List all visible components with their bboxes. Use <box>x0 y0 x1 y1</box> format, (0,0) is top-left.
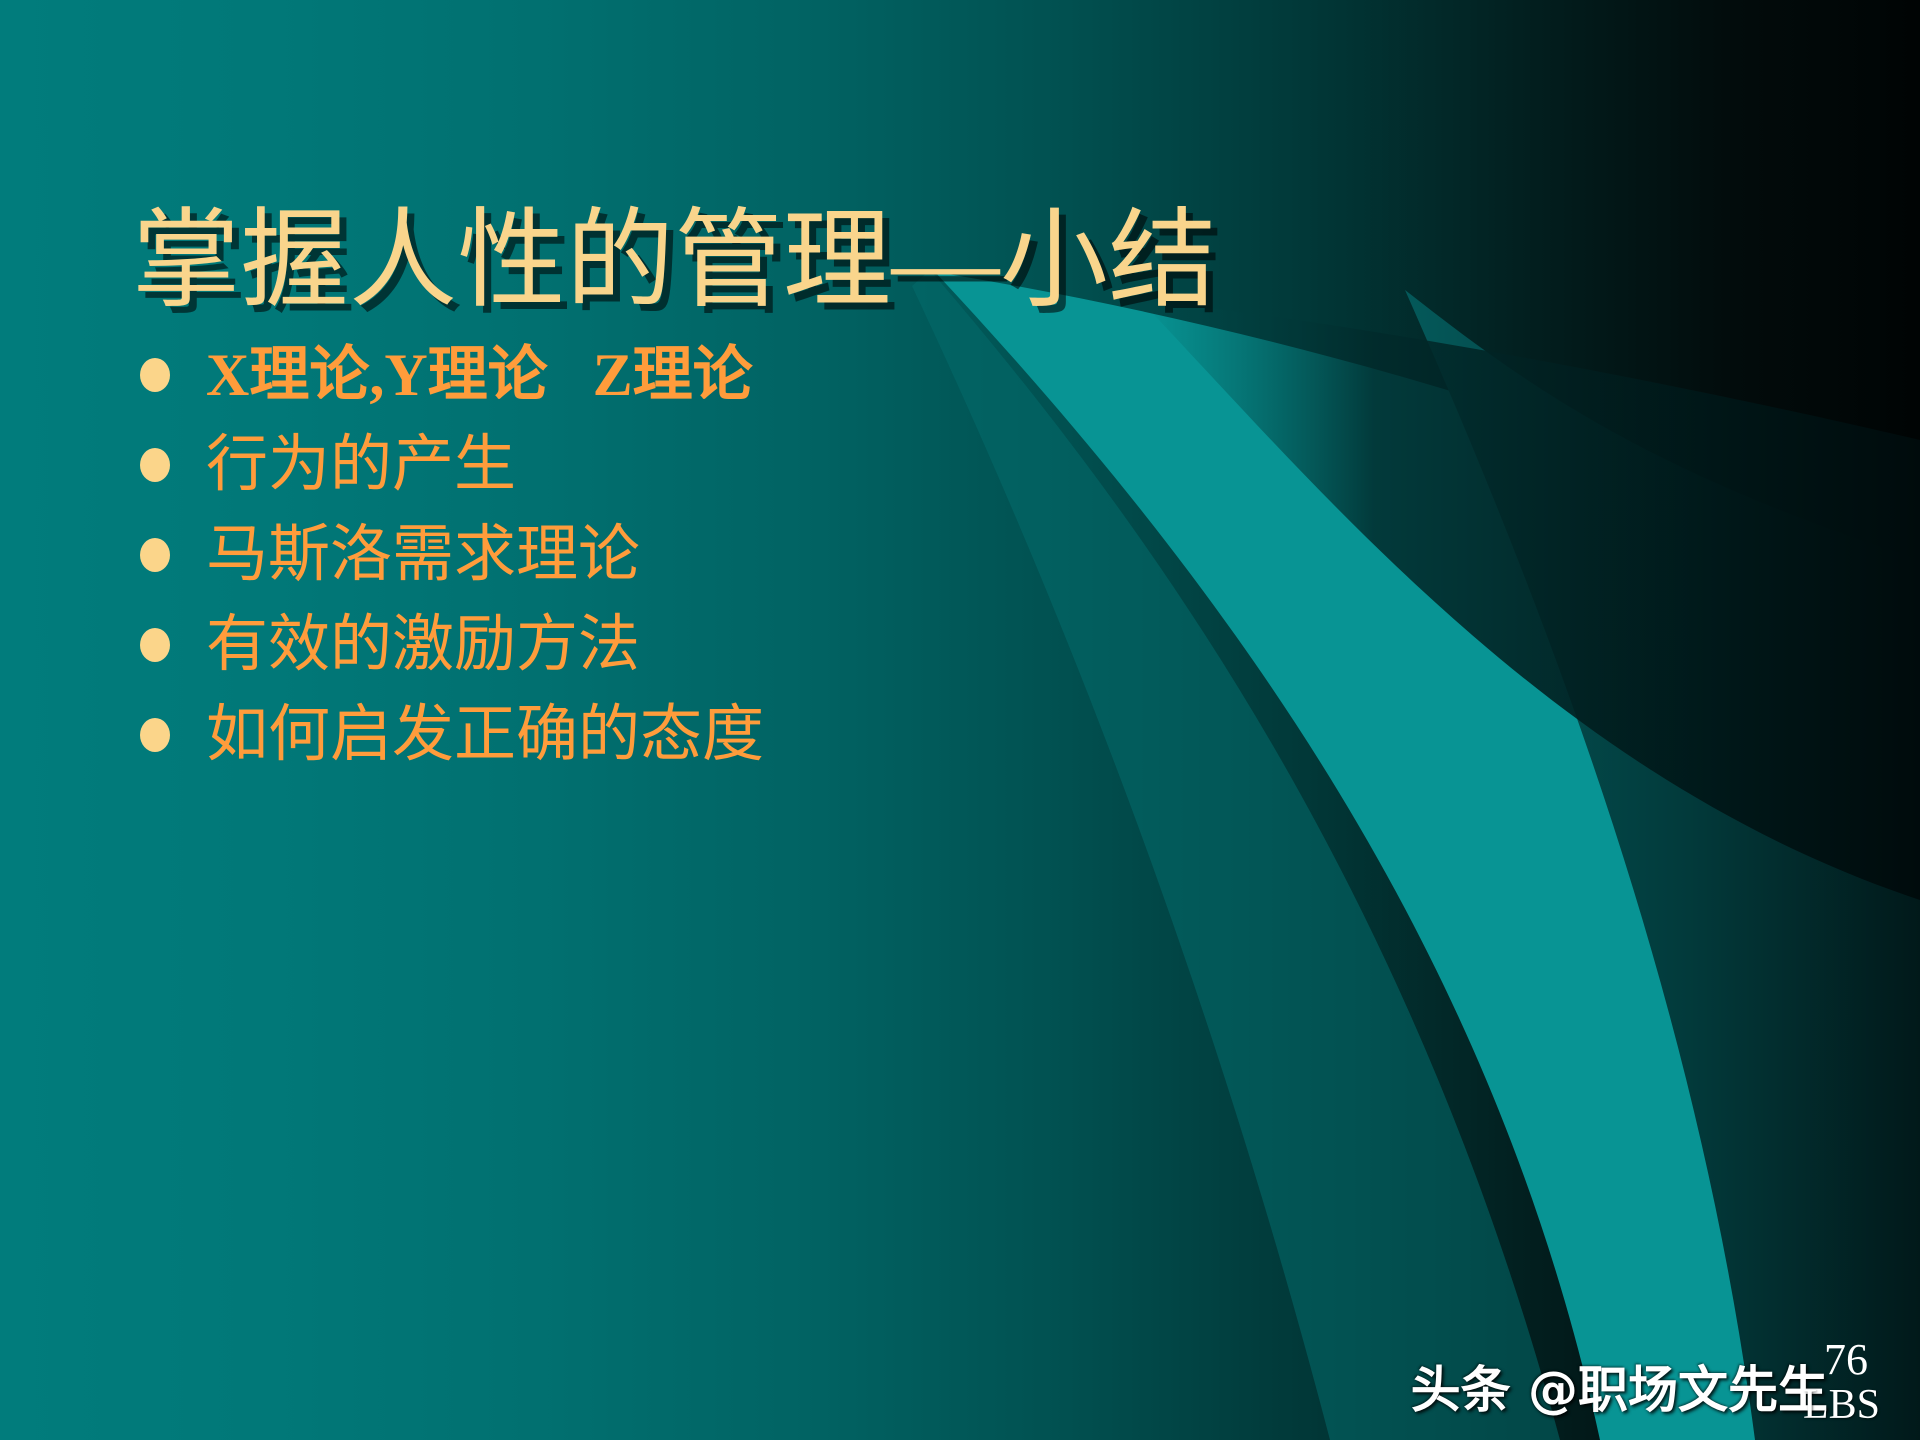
watermark-text: 头条 @职场文先生 <box>1411 1350 1828 1422</box>
slide-title: 掌握人性的管理—小结 <box>132 200 1217 324</box>
list-item-label: 如何启发正确的态度 <box>206 704 764 766</box>
swoosh-dark-overlay <box>1405 290 1920 1440</box>
list-item-label: 有效的激励方法 <box>206 614 640 676</box>
bullet-dot-icon <box>140 358 170 392</box>
bullet-dot-icon <box>140 538 170 572</box>
footer-code-label: LBS <box>1803 1384 1880 1426</box>
page-number: 76 <box>1824 1338 1868 1382</box>
list-item-label: 马斯洛需求理论 <box>206 524 640 586</box>
list-item: 马斯洛需求理论 <box>140 510 1140 600</box>
list-item: 有效的激励方法 <box>140 600 1140 690</box>
list-item: X理论,Y理论 Z理论 <box>140 330 1140 420</box>
list-item: 行为的产生 <box>140 420 1140 510</box>
list-item: 如何启发正确的态度 <box>140 690 1140 780</box>
crescent-shape <box>1140 300 1920 900</box>
list-item-label: 行为的产生 <box>206 434 516 496</box>
bullet-dot-icon <box>140 718 170 752</box>
bullet-list: X理论,Y理论 Z理论 行为的产生 马斯洛需求理论 有效的激励方法 如何启发正确… <box>140 330 1140 780</box>
bullet-dot-icon <box>140 448 170 482</box>
presentation-slide: 掌握人性的管理—小结 X理论,Y理论 Z理论 行为的产生 马斯洛需求理论 有效的… <box>0 0 1920 1440</box>
list-item-label: X理论,Y理论 Z理论 <box>206 345 753 405</box>
bullet-dot-icon <box>140 628 170 662</box>
